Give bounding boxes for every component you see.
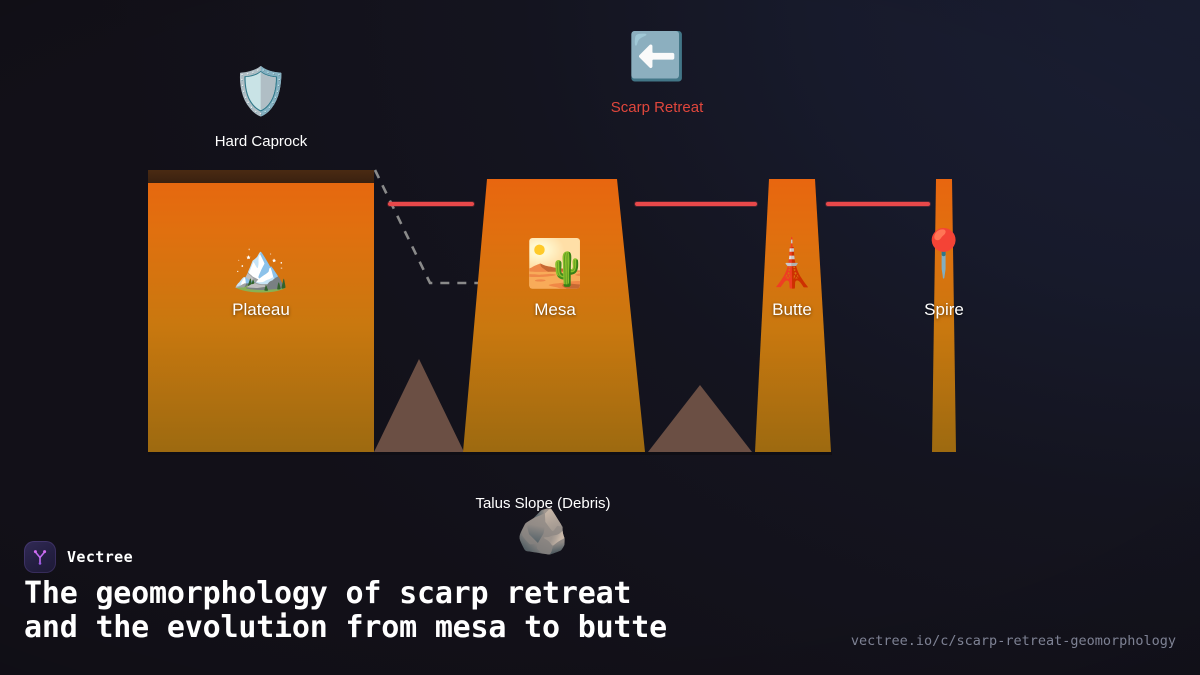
spire-icon: 📍 [915, 230, 972, 276]
retreat-arrow-2 [635, 202, 757, 206]
spire-label: Spire [924, 300, 964, 320]
footer-bar: Vectree The geomorphology of scarp retre… [0, 535, 1200, 675]
vectree-tree-logo-icon [24, 541, 56, 573]
headline: The geomorphology of scarp retreat and t… [24, 577, 667, 644]
brand-row: Vectree [24, 541, 133, 573]
shield-icon: 🛡️ [232, 68, 289, 114]
scarp-retreat-label: Scarp Retreat [611, 99, 704, 116]
left-arrow-icon: ⬅️ [628, 33, 685, 79]
retreat-arrow-1 [388, 202, 474, 206]
hard-caprock-label: Hard Caprock [215, 133, 308, 150]
source-url: vectree.io/c/scarp-retreat-geomorphology [851, 633, 1176, 649]
retreat-arrow-3 [826, 202, 930, 206]
poster-canvas: 🏔️ Plateau 🏜️ Mesa 🗼 Butte � [0, 0, 1200, 675]
brand-name: Vectree [67, 548, 133, 566]
